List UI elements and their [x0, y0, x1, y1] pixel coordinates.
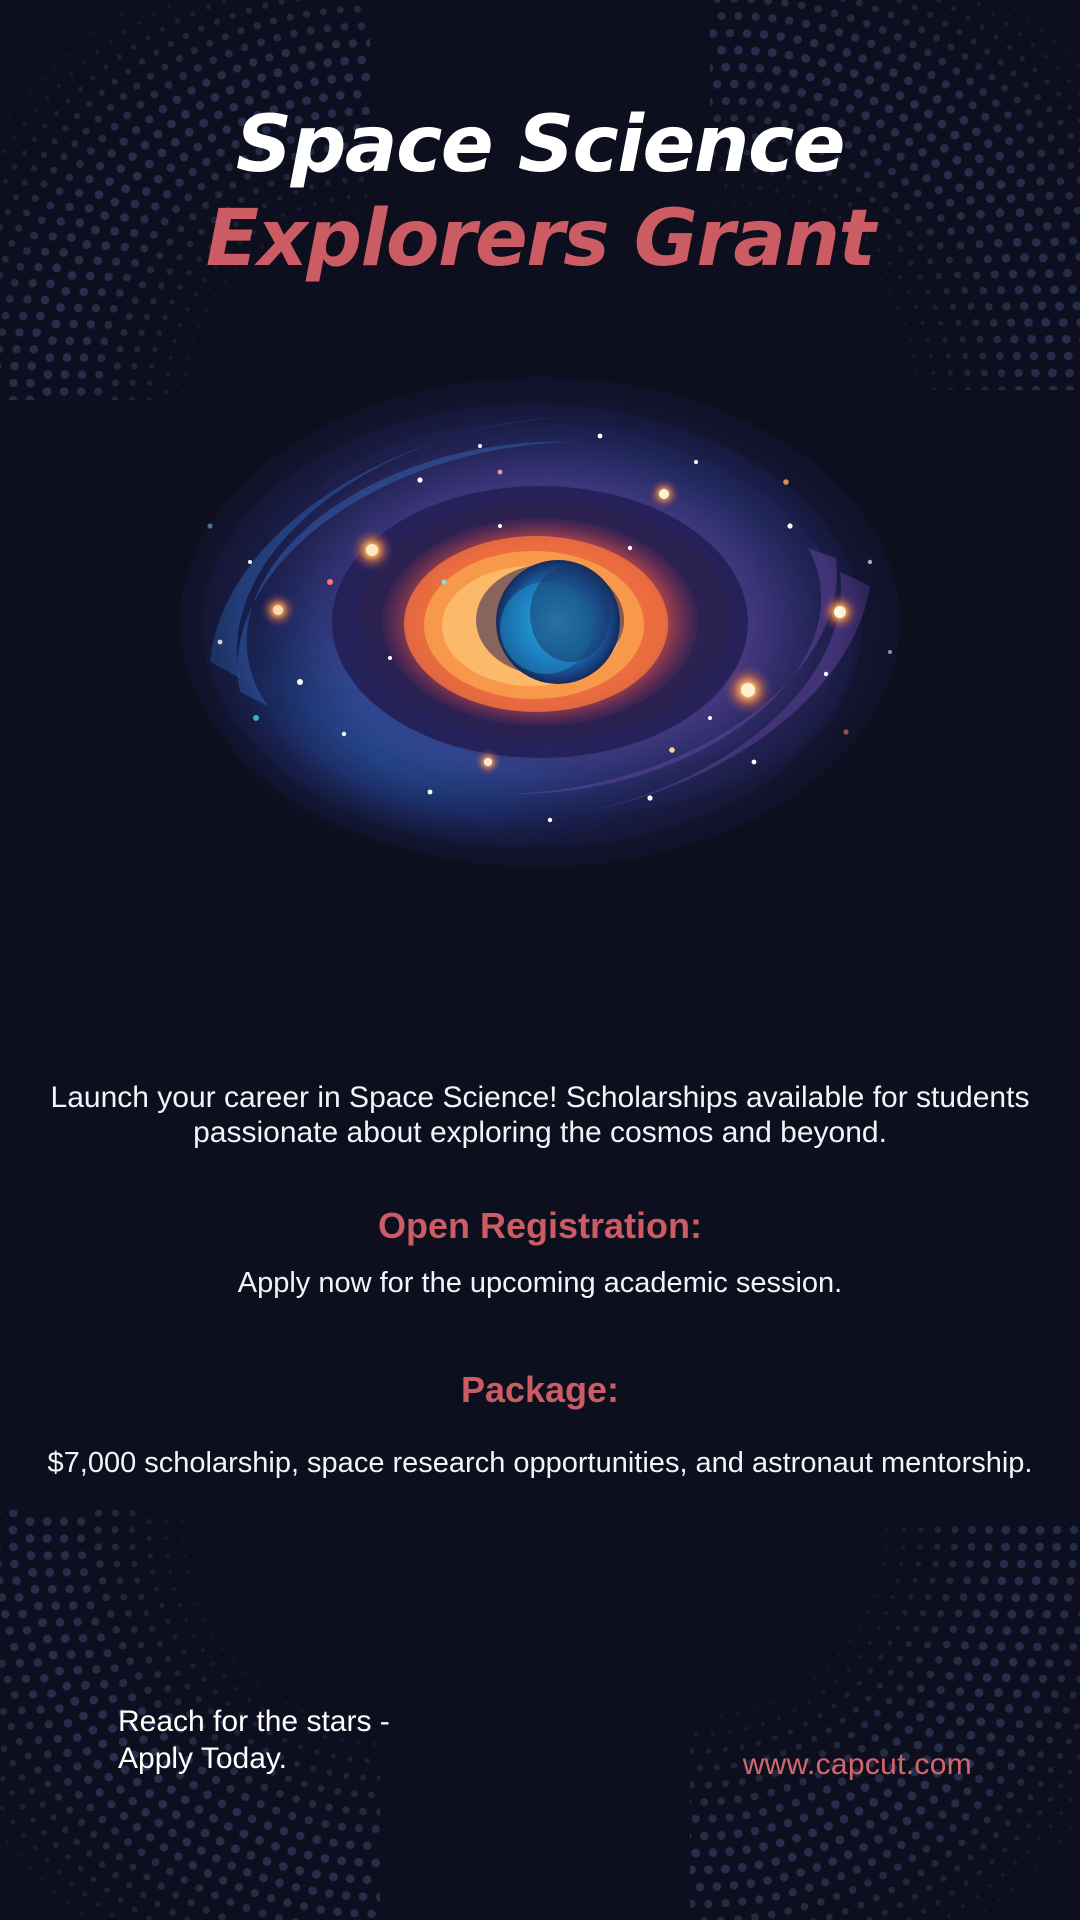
section-body: Apply now for the upcoming academic sess… [0, 1265, 1080, 1301]
section-heading: Package: [0, 1368, 1080, 1411]
footer-website-link[interactable]: www.capcut.com [743, 1748, 972, 1782]
section-package: Package: $7,000 scholarship, space resea… [0, 1368, 1080, 1481]
section-open-registration: Open Registration: Apply now for the upc… [0, 1204, 1080, 1301]
section-heading: Open Registration: [0, 1204, 1080, 1247]
galaxy-illustration [140, 372, 940, 872]
footer-tagline: Reach for the stars - Apply Today. [118, 1704, 390, 1777]
title-line-primary: Space Science [0, 106, 1080, 184]
page-title: Space Science Explorers Grant [0, 106, 1080, 278]
footer: Reach for the stars - Apply Today. www.c… [0, 1704, 1080, 1824]
title-line-accent: Explorers Grant [0, 200, 1080, 278]
poster-canvas: Space Science Explorers Grant [0, 0, 1080, 1920]
intro-paragraph: Launch your career in Space Science! Sch… [0, 1080, 1080, 1150]
section-body: $7,000 scholarship, space research oppor… [0, 1445, 1080, 1481]
content-block: Launch your career in Space Science! Sch… [0, 1080, 1080, 1481]
